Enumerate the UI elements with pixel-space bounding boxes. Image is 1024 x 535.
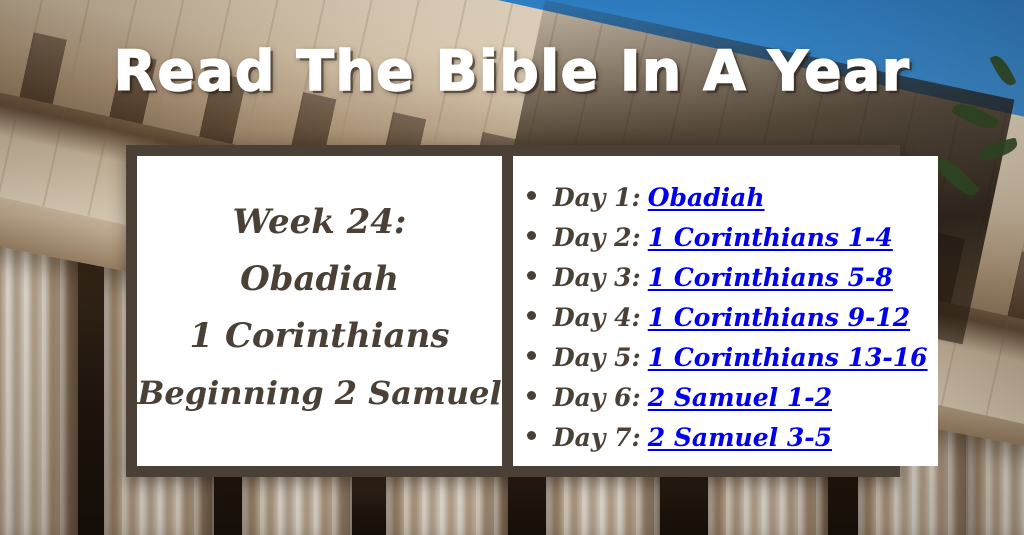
reading-link[interactable]: 2 Samuel 1-2 (648, 378, 832, 418)
bullet-icon (527, 351, 536, 360)
bullet-icon (527, 191, 536, 200)
bullet-icon (527, 311, 536, 320)
list-item: Day 5: 1 Corinthians 13-16 (527, 338, 928, 378)
reading-link[interactable]: 2 Samuel 3-5 (648, 418, 832, 458)
list-item: Day 2: 1 Corinthians 1-4 (527, 218, 928, 258)
day-label: Day 7: (553, 418, 641, 458)
list-item: Day 6: 2 Samuel 1-2 (527, 378, 928, 418)
day-list: Day 1: Obadiah Day 2: 1 Corinthians 1-4 … (527, 178, 928, 458)
week-summary-line: Week 24: (233, 194, 407, 251)
content-card: Week 24: Obadiah 1 Corinthians Beginning… (126, 145, 900, 477)
bible-reading-plan-poster: Read The Bible In A Year Week 24: Obadia… (0, 0, 1024, 535)
daily-schedule-panel: Day 1: Obadiah Day 2: 1 Corinthians 1-4 … (513, 156, 938, 466)
list-item: Day 1: Obadiah (527, 178, 928, 218)
day-label: Day 5: (553, 338, 641, 378)
bullet-icon (527, 431, 536, 440)
reading-link[interactable]: Obadiah (648, 178, 765, 218)
week-summary-line: Beginning 2 Samuel (137, 365, 501, 422)
week-summary-line: Obadiah (240, 251, 399, 308)
bullet-icon (527, 231, 536, 240)
bullet-icon (527, 391, 536, 400)
week-summary-panel: Week 24: Obadiah 1 Corinthians Beginning… (137, 156, 502, 466)
list-item: Day 7: 2 Samuel 3-5 (527, 418, 928, 458)
day-label: Day 3: (553, 258, 641, 298)
reading-link[interactable]: 1 Corinthians 1-4 (648, 218, 893, 258)
day-label: Day 4: (553, 298, 641, 338)
reading-link[interactable]: 1 Corinthians 5-8 (648, 258, 893, 298)
page-title: Read The Bible In A Year (0, 44, 1024, 99)
day-label: Day 6: (553, 378, 641, 418)
list-item: Day 3: 1 Corinthians 5-8 (527, 258, 928, 298)
reading-link[interactable]: 1 Corinthians 13-16 (648, 338, 928, 378)
bullet-icon (527, 271, 536, 280)
day-label: Day 2: (553, 218, 641, 258)
day-label: Day 1: (553, 178, 641, 218)
week-summary-line: 1 Corinthians (189, 308, 449, 365)
reading-link[interactable]: 1 Corinthians 9-12 (648, 298, 910, 338)
list-item: Day 4: 1 Corinthians 9-12 (527, 298, 928, 338)
